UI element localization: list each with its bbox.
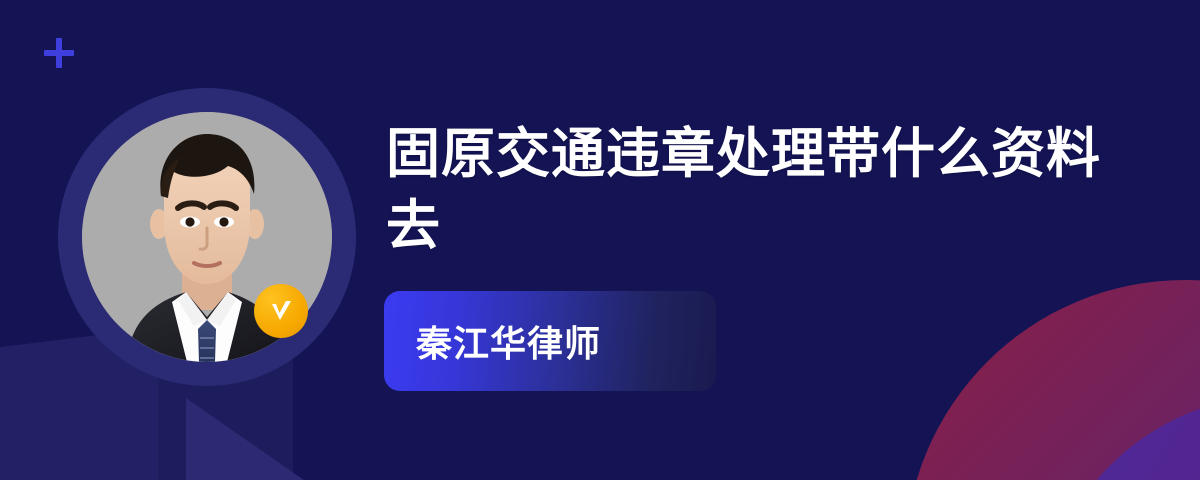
lawyer-profile-banner: 固原交通违章处理带什么资料去 秦江华律师 <box>0 0 1200 480</box>
headline-block: 固原交通违章处理带什么资料去 <box>386 118 1126 262</box>
page-title: 固原交通违章处理带什么资料去 <box>386 118 1126 262</box>
plus-icon <box>44 38 74 68</box>
lawyer-name-label: 秦江华律师 <box>384 315 601 367</box>
verified-check-icon <box>254 284 308 338</box>
avatar[interactable] <box>58 88 356 386</box>
lawyer-name-badge[interactable]: 秦江华律师 <box>384 291 716 391</box>
